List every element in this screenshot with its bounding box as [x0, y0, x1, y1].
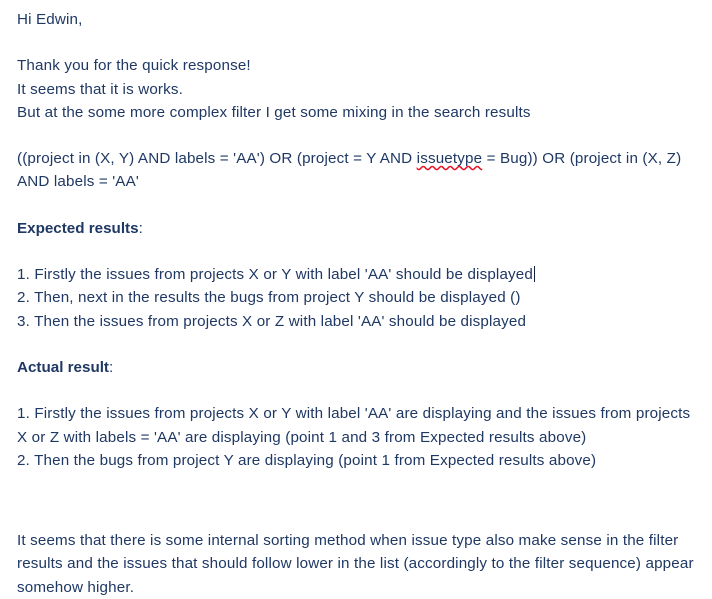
blank-line: [17, 124, 696, 147]
comment-editor-body[interactable]: Hi Edwin, Thank you for the quick respon…: [0, 0, 712, 599]
actual-item-1: 1. Firstly the issues from projects X or…: [17, 402, 696, 448]
blank-line: [17, 506, 696, 529]
blank-line: [17, 333, 696, 356]
actual-result-heading-colon: :: [109, 359, 113, 376]
closing-paragraph: It seems that there is some internal sor…: [17, 529, 696, 599]
greeting-line: Hi Edwin,: [17, 8, 696, 31]
expected-item-1: 1. Firstly the issues from projects X or…: [17, 263, 696, 286]
text-caret: [534, 266, 536, 282]
blank-line: [17, 472, 696, 506]
intro-line-2: It seems that it is works.: [17, 78, 696, 101]
blank-line: [17, 240, 696, 263]
actual-result-heading: Actual result:: [17, 356, 696, 379]
expected-results-heading-label: Expected results: [17, 220, 139, 237]
blank-line: [17, 194, 696, 217]
actual-result-heading-label: Actual result: [17, 359, 109, 376]
expected-item-3: 3. Then the issues from projects X or Z …: [17, 310, 696, 333]
expected-item-1-text: 1. Firstly the issues from projects X or…: [17, 266, 533, 283]
expected-item-2: 2. Then, next in the results the bugs fr…: [17, 286, 696, 309]
expected-results-heading: Expected results:: [17, 217, 696, 240]
blank-line: [17, 31, 696, 54]
jql-segment-before: ((project in (X, Y) AND labels = 'AA') O…: [17, 150, 417, 167]
spellcheck-misspelled-word[interactable]: issuetype: [417, 150, 483, 167]
blank-line: [17, 379, 696, 402]
actual-item-2: 2. Then the bugs from project Y are disp…: [17, 449, 696, 472]
intro-line-3: But at the some more complex filter I ge…: [17, 101, 696, 124]
expected-results-heading-colon: :: [139, 220, 143, 237]
jql-query-paragraph: ((project in (X, Y) AND labels = 'AA') O…: [17, 147, 696, 193]
intro-line-1: Thank you for the quick response!: [17, 54, 696, 77]
